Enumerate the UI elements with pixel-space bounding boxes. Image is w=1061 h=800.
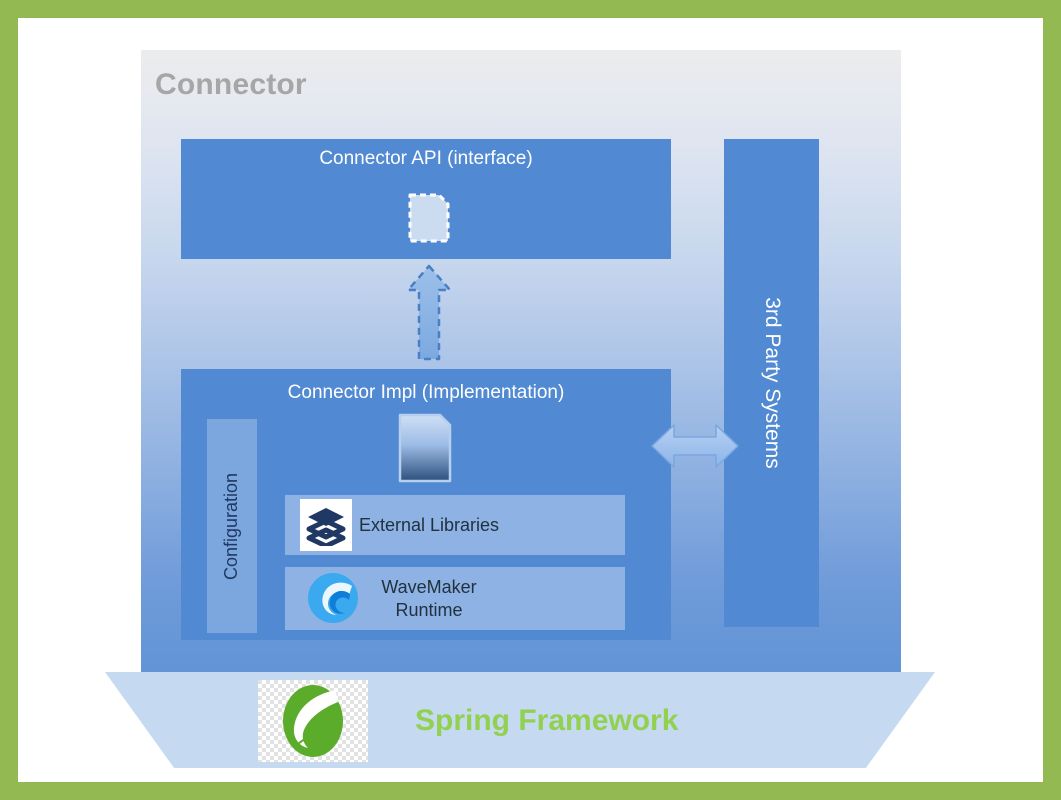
configuration-label: Configuration (222, 472, 243, 579)
arrow-double-horizontal-icon (650, 420, 740, 472)
page-title: Connector (155, 68, 307, 102)
connector-impl-label: Connector Impl (Implementation) (181, 382, 671, 404)
third-party-systems-label: 3rd Party Systems (760, 297, 784, 469)
layers-icon (305, 504, 347, 546)
arrow-up-dashed-icon (404, 263, 454, 363)
document-dashed-icon (407, 192, 451, 244)
wavemaker-logo-icon (305, 570, 361, 626)
diagram-canvas: Connector Connector API (interface) Conn… (0, 0, 1061, 800)
spring-leaf-logo-icon (258, 680, 368, 762)
document-icon (396, 412, 454, 484)
configuration-label-wrap: Configuration (207, 419, 257, 633)
third-party-systems-label-wrap: 3rd Party Systems (724, 139, 819, 627)
spring-framework-label: Spring Framework (415, 672, 678, 770)
connector-api-label: Connector API (interface) (181, 148, 671, 170)
layers-icon-tile (300, 499, 352, 551)
spring-framework-band: Spring Framework (105, 672, 935, 770)
